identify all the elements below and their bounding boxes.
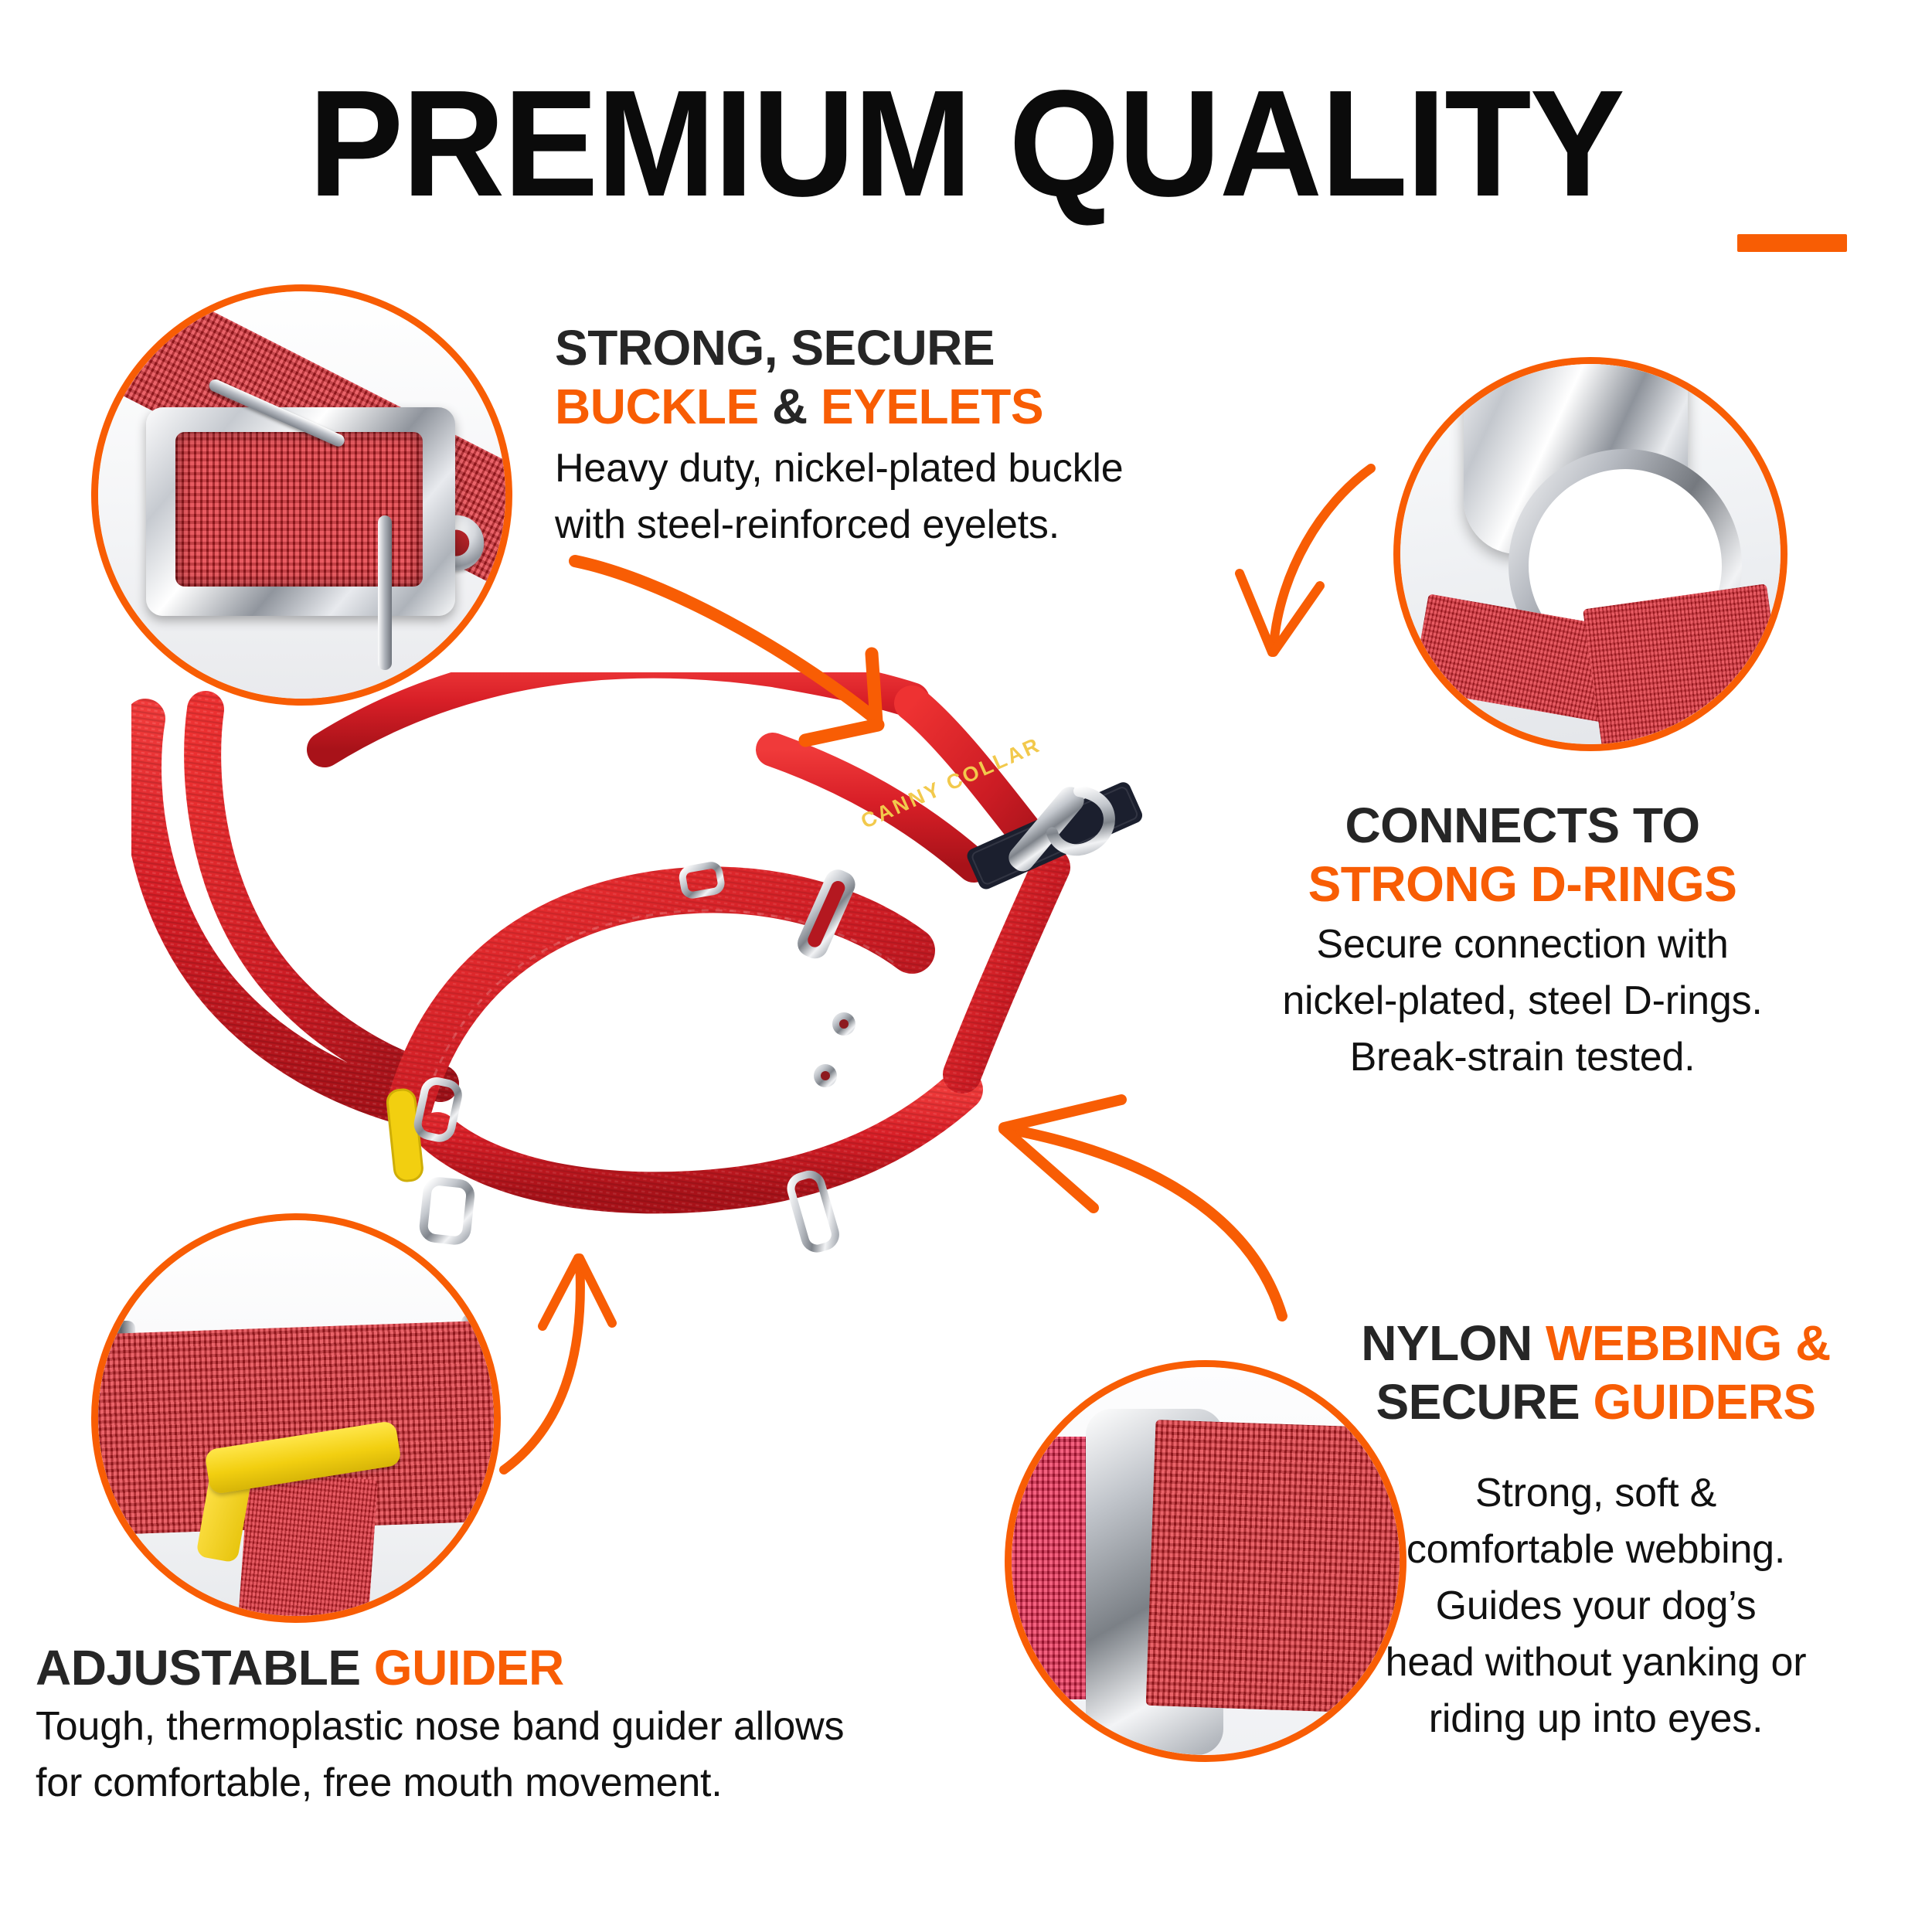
body-line-5: riding up into eyes.	[1429, 1696, 1764, 1741]
feature-buckle-body: Heavy duty, nickel-plated buckle with st…	[555, 440, 1181, 553]
heading-word-buckle: BUCKLE	[555, 379, 759, 434]
body-line-3: Break-strain tested.	[1350, 1035, 1696, 1080]
title-underline-accent	[1737, 234, 1847, 252]
arrow-to-guider-icon	[495, 1229, 742, 1484]
body-line-1: Tough, thermoplastic nose band guider al…	[36, 1704, 844, 1749]
feature-guider-body: Tough, thermoplastic nose band guider al…	[36, 1699, 947, 1811]
buckle-frame	[146, 407, 455, 616]
d-ring-bottom	[423, 1180, 471, 1241]
page-title: PREMIUM QUALITY	[58, 68, 1874, 219]
body-line-3: Guides your dog’s	[1436, 1583, 1757, 1628]
heading-line-1: STRONG, SECURE	[555, 320, 995, 376]
product-photo-head-collar: CANNY COLLAR	[131, 672, 1291, 1260]
body-line-2: comfortable webbing.	[1406, 1527, 1785, 1572]
feature-dring-text: CONNECTS TO STRONG D-RINGS Secure connec…	[1136, 796, 1909, 1086]
feature-buckle-text: STRONG, SECURE BUCKLE & EYELETS Heavy du…	[555, 318, 1181, 553]
heading-word-secure: SECURE	[1376, 1374, 1593, 1430]
body-line-2: for comfortable, free mouth movement.	[36, 1760, 723, 1805]
feature-guider-text: ADJUSTABLE GUIDER Tough, thermoplastic n…	[36, 1638, 947, 1811]
body-line-2: nickel-plated, steel D-rings.	[1282, 978, 1762, 1023]
infographic-canvas: PREMIUM QUALITY	[0, 0, 1932, 1932]
heading-word-guider: GUIDER	[374, 1640, 564, 1696]
feature-dring-body: Secure connection with nickel-plated, st…	[1136, 917, 1909, 1086]
feature-webbing-text: NYLON WEBBING & SECURE GUIDERS Strong, s…	[1275, 1314, 1917, 1747]
feature-dring-heading: CONNECTS TO STRONG D-RINGS	[1136, 796, 1909, 913]
photo-adjustable-guider	[91, 1213, 501, 1623]
body-line-1: Strong, soft &	[1475, 1471, 1716, 1515]
webbing-right	[1583, 583, 1781, 744]
heading-line-1: CONNECTS TO	[1345, 798, 1699, 853]
photo-buckle-eyelets	[91, 284, 512, 706]
feature-buckle-heading: STRONG, SECURE BUCKLE & EYELETS	[555, 318, 1181, 436]
body-line-2: with steel-reinforced eyelets.	[555, 502, 1060, 547]
heading-word-adjustable: ADJUSTABLE	[36, 1640, 374, 1696]
heading-word-nylon: NYLON	[1361, 1315, 1546, 1371]
feature-webbing-body: Strong, soft & comfortable webbing. Guid…	[1275, 1465, 1917, 1747]
body-line-4: head without yanking or	[1386, 1640, 1807, 1685]
vertical-webbing	[236, 1471, 378, 1616]
body-line-1: Secure connection with	[1316, 922, 1728, 967]
heading-line-2: STRONG D-RINGS	[1308, 856, 1737, 912]
heading-word-guiders: GUIDERS	[1593, 1374, 1815, 1430]
heading-word-webbing: WEBBING &	[1546, 1315, 1831, 1371]
feature-webbing-heading: NYLON WEBBING & SECURE GUIDERS	[1275, 1314, 1917, 1431]
heading-amp: &	[759, 379, 821, 434]
heading-word-eyelets: EYELETS	[821, 379, 1043, 434]
photo-d-rings	[1393, 357, 1787, 751]
feature-guider-heading: ADJUSTABLE GUIDER	[36, 1638, 947, 1697]
body-line-1: Heavy duty, nickel-plated buckle	[555, 446, 1123, 491]
